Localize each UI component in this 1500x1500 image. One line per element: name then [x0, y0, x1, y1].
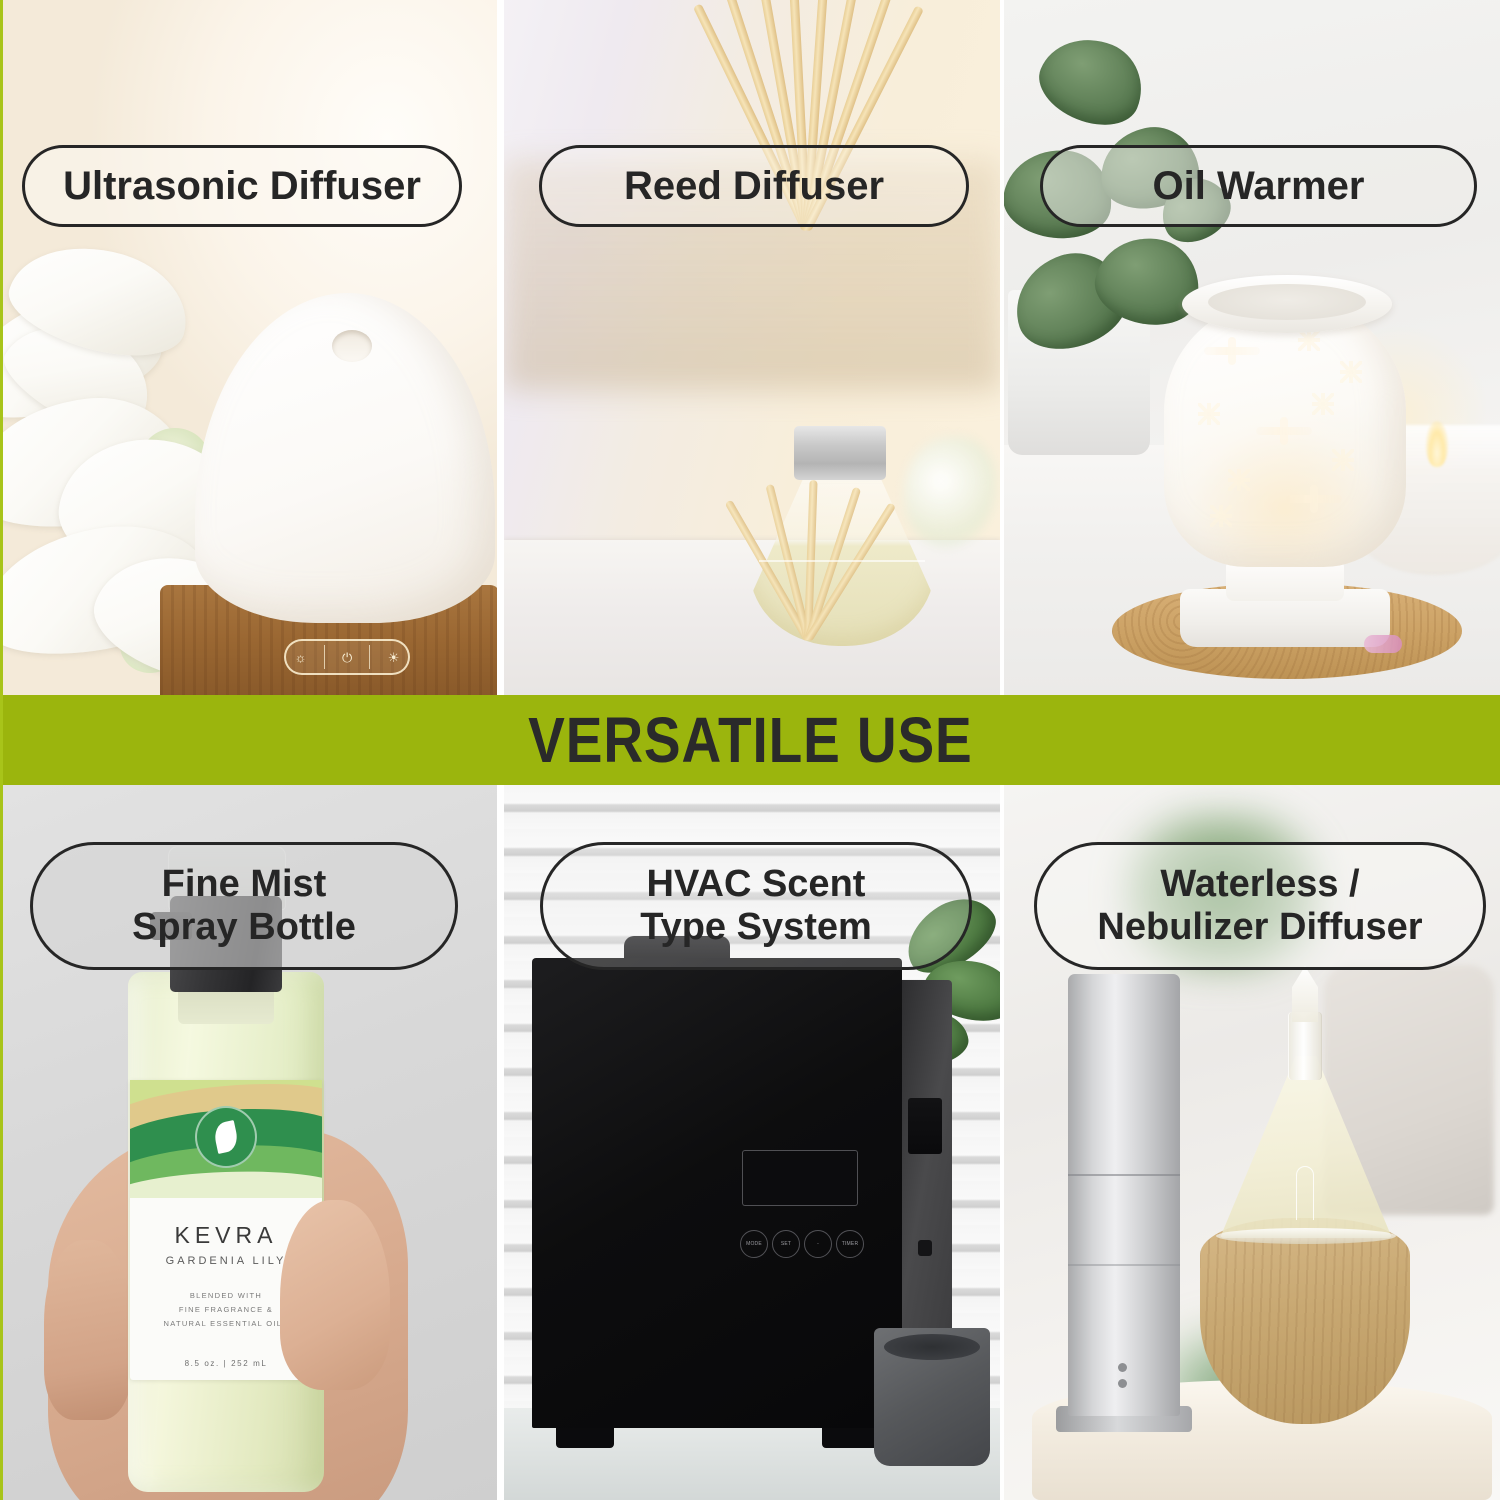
- bottle-description: BLENDED WITH FINE FRAGRANCE & NATURAL ES…: [163, 1289, 288, 1331]
- flower-motif: [1332, 449, 1354, 471]
- flower-motif: [1340, 361, 1362, 383]
- label-line-1: Fine Mist: [132, 863, 356, 906]
- diffuser-touch-panel[interactable]: ☼ ⏻ ☀: [284, 639, 410, 675]
- bottle-volume: 8.5 oz. | 252 mL: [185, 1359, 268, 1368]
- candle-flame-icon: [1426, 421, 1448, 467]
- label-line-1: Waterless /: [1097, 863, 1422, 906]
- bottle-description-line-2: FINE FRAGRANCE &: [163, 1303, 288, 1317]
- dragonfly-motif: [1204, 347, 1260, 355]
- hvac-foot: [822, 1428, 880, 1448]
- diffuser-mist-vent: [332, 330, 372, 362]
- dragonfly-motif: [1256, 427, 1312, 435]
- power-icon[interactable]: ⏻: [342, 651, 352, 664]
- label-fine-mist-spray-bottle: Fine Mist Spray Bottle: [30, 842, 458, 970]
- cylinder-button[interactable]: [1118, 1379, 1127, 1388]
- ceramic-warmer-body: [1164, 299, 1406, 567]
- oil-level-line: [759, 560, 925, 562]
- glass-neck: [1288, 1012, 1322, 1080]
- light-icon[interactable]: ☀: [388, 651, 400, 664]
- label-waterless-nebulizer-diffuser: Waterless / Nebulizer Diffuser: [1034, 842, 1486, 970]
- label-ultrasonic-diffuser: Ultrasonic Diffuser: [22, 145, 462, 227]
- wood-diffuser-base: [1200, 1218, 1410, 1424]
- flower-motif: [1312, 393, 1334, 415]
- hvac-mode-button[interactable]: MODE: [740, 1230, 768, 1258]
- panel-oil-warmer: [1004, 0, 1500, 695]
- leaf-seal-icon: [195, 1106, 257, 1168]
- label-hvac-scent-type-system: HVAC Scent Type System: [540, 842, 972, 970]
- thumb: [280, 1200, 390, 1390]
- hvac-set-button[interactable]: SET: [772, 1230, 800, 1258]
- label-text: Ultrasonic Diffuser: [63, 164, 421, 209]
- hvac-timer-button[interactable]: TIMER: [836, 1230, 864, 1258]
- hvac-side-slot: [908, 1098, 942, 1154]
- panel-reed-diffuser: [504, 0, 1000, 695]
- bottle-silver-collar: [794, 426, 886, 480]
- bottle-scent-name: GARDENIA LILY: [166, 1255, 287, 1267]
- hvac-feet: [556, 1426, 880, 1448]
- hvac-minus-button[interactable]: -: [804, 1230, 832, 1258]
- bottle-description-line-3: NATURAL ESSENTIAL OILS: [163, 1317, 288, 1331]
- left-accent-stripe: [0, 0, 3, 1500]
- mist-icon[interactable]: ☼: [295, 651, 307, 664]
- label-reed-diffuser: Reed Diffuser: [539, 145, 969, 227]
- flower-motif: [1210, 505, 1232, 527]
- label-text: Oil Warmer: [1153, 164, 1365, 209]
- versatile-use-infographic: ☼ ⏻ ☀: [0, 0, 1500, 1500]
- label-line-2: Spray Bottle: [132, 906, 356, 949]
- label-line-2: Type System: [640, 906, 872, 949]
- warmer-power-indicator: [1364, 635, 1402, 653]
- glass-rim: [1216, 1228, 1396, 1244]
- finger: [44, 1240, 132, 1420]
- hvac-side-latch[interactable]: [918, 1240, 932, 1256]
- bottle-description-line-1: BLENDED WITH: [163, 1289, 288, 1303]
- label-text: Waterless / Nebulizer Diffuser: [1097, 863, 1422, 948]
- panel-ultrasonic-diffuser: ☼ ⏻ ☀: [0, 0, 497, 695]
- warmer-oil-dish: [1182, 275, 1392, 333]
- leaf-glyph: [212, 1120, 240, 1154]
- label-line-2: Nebulizer Diffuser: [1097, 906, 1422, 949]
- glass-inner-tube: [1296, 1166, 1314, 1220]
- hvac-button-row[interactable]: MODE SET - TIMER: [740, 1224, 864, 1264]
- label-text: Reed Diffuser: [624, 164, 884, 209]
- versatile-use-banner: VERSATILE USE: [0, 695, 1500, 785]
- label-graphic-band: [130, 1080, 322, 1198]
- hvac-foot: [556, 1428, 614, 1448]
- flower-motif: [1228, 469, 1250, 491]
- bottle-brand-name: KEVRA: [175, 1222, 278, 1249]
- label-line-1: HVAC Scent: [640, 863, 872, 906]
- metal-nebulizer-cylinder: [1068, 974, 1180, 1416]
- divider: [324, 645, 325, 669]
- cylinder-indicator-light: [1118, 1363, 1127, 1372]
- dragonfly-motif: [1286, 495, 1342, 503]
- label-text: Fine Mist Spray Bottle: [132, 863, 356, 948]
- cylinder-seam: [1068, 1174, 1180, 1176]
- flower-motif: [1198, 403, 1220, 425]
- divider: [369, 645, 370, 669]
- marble-table: [504, 540, 1000, 695]
- banner-headline: VERSATILE USE: [528, 708, 972, 772]
- label-oil-warmer: Oil Warmer: [1040, 145, 1477, 227]
- label-text: HVAC Scent Type System: [640, 863, 872, 948]
- concrete-pot: [874, 1328, 990, 1466]
- cylinder-seam: [1068, 1264, 1180, 1266]
- hvac-display-screen: [742, 1150, 858, 1206]
